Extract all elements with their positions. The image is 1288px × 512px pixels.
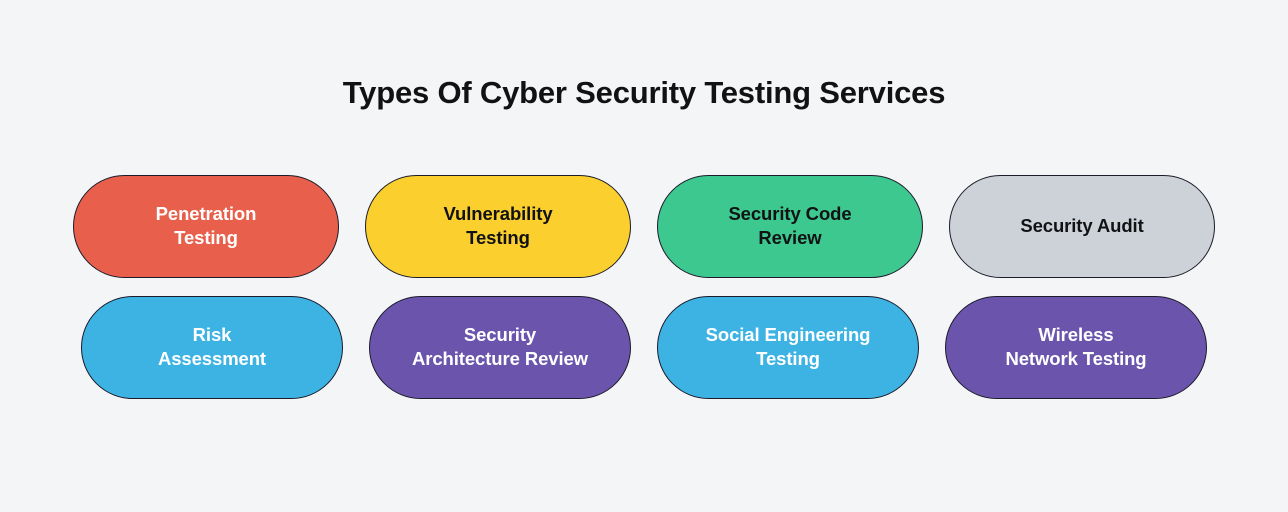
service-card-row-2: Risk Assessment Security Architecture Re… [0, 296, 1288, 399]
service-card-label: Risk Assessment [158, 323, 266, 372]
service-card-wireless-network-testing[interactable]: Wireless Network Testing [945, 296, 1207, 399]
service-card-label-line2: Testing [756, 348, 820, 369]
service-card-label-line2: Network Testing [1005, 348, 1146, 369]
service-card-label-line1: Security Audit [1020, 215, 1143, 236]
service-card-label-line2: Review [758, 227, 821, 248]
service-card-label-line1: Penetration [156, 203, 257, 224]
service-card-label: Vulnerability Testing [443, 202, 552, 251]
service-card-vulnerability-testing[interactable]: Vulnerability Testing [365, 175, 631, 278]
service-card-social-engineering-testing[interactable]: Social Engineering Testing [657, 296, 919, 399]
service-card-security-audit[interactable]: Security Audit [949, 175, 1215, 278]
service-card-label: Security Audit [1020, 214, 1143, 238]
service-card-label-line2: Architecture Review [412, 348, 588, 369]
service-card-label: Security Architecture Review [412, 323, 588, 372]
infographic-canvas: Types Of Cyber Security Testing Services… [0, 0, 1288, 512]
service-card-label-line1: Security [464, 324, 536, 345]
service-card-label: Social Engineering Testing [706, 323, 871, 372]
service-card-label: Security Code Review [728, 202, 851, 251]
page-title: Types Of Cyber Security Testing Services [343, 76, 945, 110]
service-card-label: Wireless Network Testing [1005, 323, 1146, 372]
service-card-row-1: Penetration Testing Vulnerability Testin… [0, 175, 1288, 278]
service-card-grid: Penetration Testing Vulnerability Testin… [0, 175, 1288, 399]
service-card-label-line1: Vulnerability [443, 203, 552, 224]
service-card-label-line2: Assessment [158, 348, 266, 369]
service-card-label-line1: Social Engineering [706, 324, 871, 345]
service-card-label-line2: Testing [466, 227, 530, 248]
service-card-label-line1: Security Code [728, 203, 851, 224]
service-card-penetration-testing[interactable]: Penetration Testing [73, 175, 339, 278]
service-card-security-code-review[interactable]: Security Code Review [657, 175, 923, 278]
service-card-security-architecture-review[interactable]: Security Architecture Review [369, 296, 631, 399]
service-card-risk-assessment[interactable]: Risk Assessment [81, 296, 343, 399]
service-card-label-line2: Testing [174, 227, 238, 248]
service-card-label: Penetration Testing [156, 202, 257, 251]
service-card-label-line1: Wireless [1038, 324, 1113, 345]
service-card-label-line1: Risk [193, 324, 232, 345]
